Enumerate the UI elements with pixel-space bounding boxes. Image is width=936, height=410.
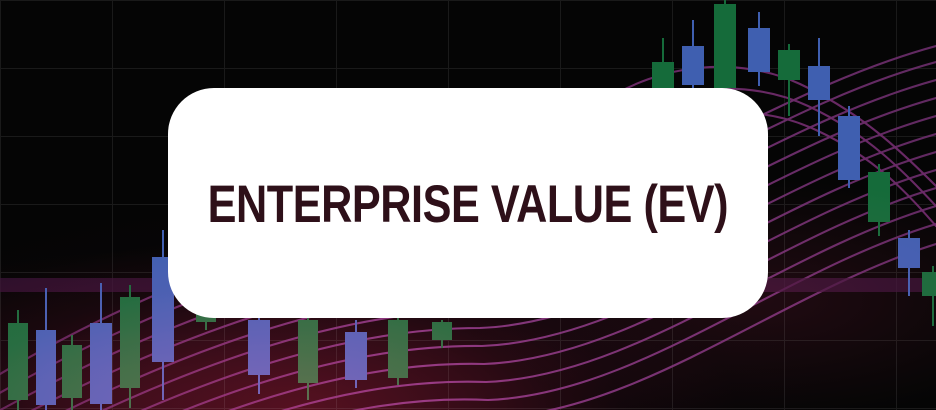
page-title: ENTERPRISE VALUE (EV) — [208, 177, 729, 230]
title-card: ENTERPRISE VALUE (EV) — [168, 88, 768, 318]
promo-banner: ENTERPRISE VALUE (EV) — [0, 0, 936, 410]
